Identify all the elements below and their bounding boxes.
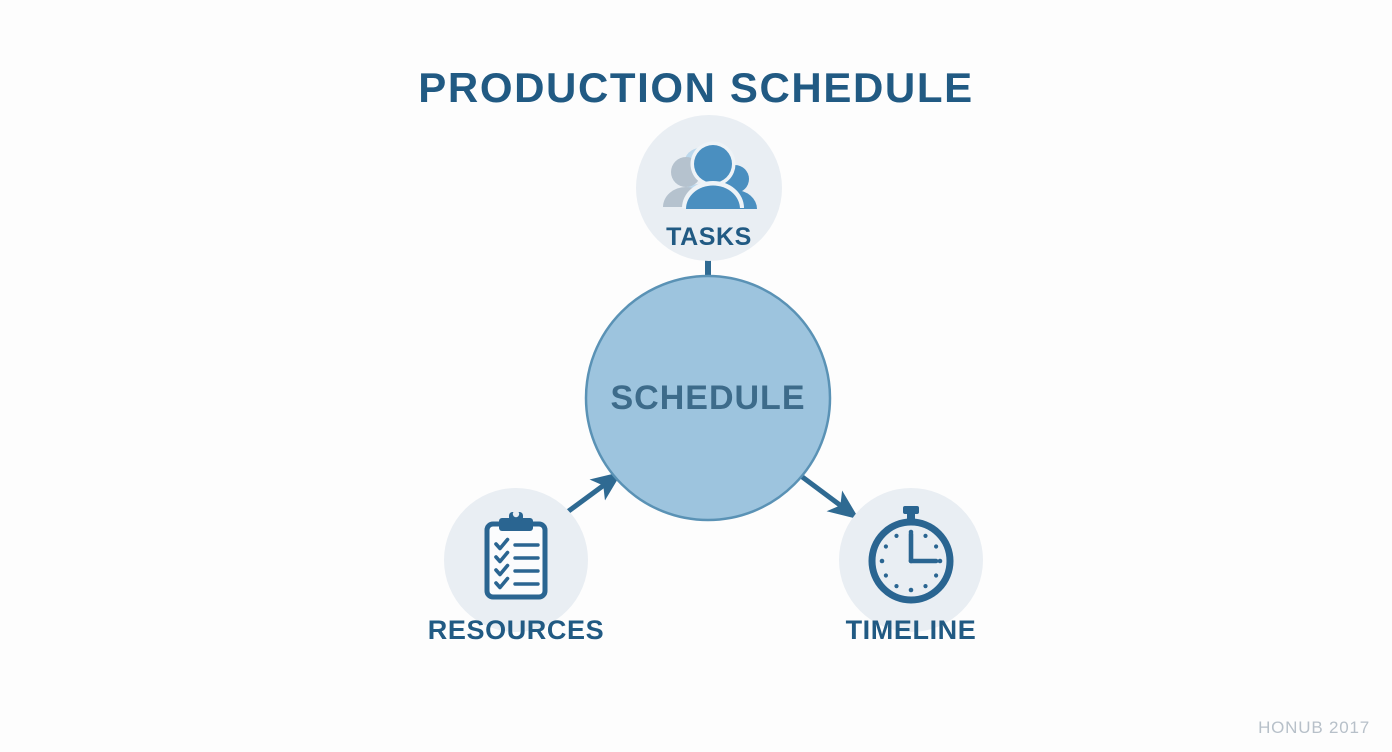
timeline-label: TIMELINE xyxy=(761,613,1061,647)
diagram-canvas: PRODUCTION SCHEDULE xyxy=(0,0,1392,752)
clipboard-checklist-icon xyxy=(487,511,545,597)
node-resources[interactable] xyxy=(444,488,588,632)
resources-label: RESOURCES xyxy=(366,613,666,647)
diagram-graphics xyxy=(0,0,1392,752)
tasks-label: TASKS xyxy=(559,222,859,252)
connector-schedule-to-timeline xyxy=(797,473,856,517)
schedule-label: SCHEDULE xyxy=(558,377,858,419)
node-timeline[interactable] xyxy=(839,488,983,632)
watermark: HONUB 2017 xyxy=(1258,718,1370,738)
connector-resources-to-schedule xyxy=(566,474,619,513)
